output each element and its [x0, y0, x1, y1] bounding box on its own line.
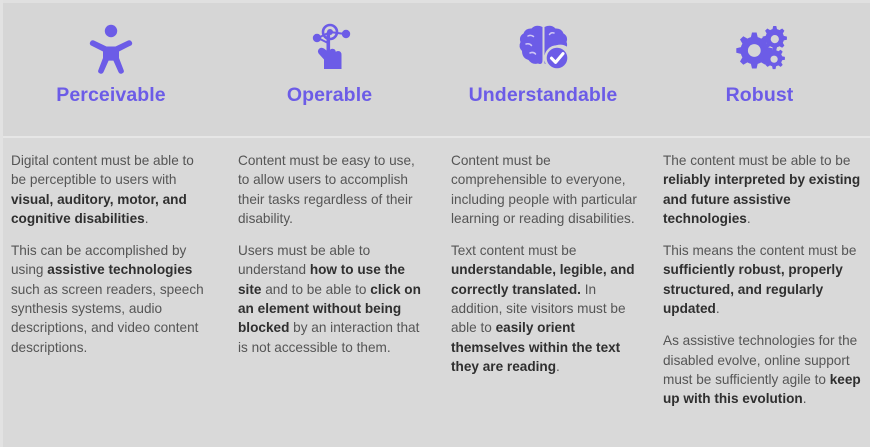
body-text: The content must be able to be [663, 153, 850, 168]
brain-check-icon [516, 18, 570, 78]
description-operable: Content must be easy to use, to allow us… [222, 151, 437, 447]
body-text: . [145, 211, 149, 226]
pillar-title-perceivable: Perceivable [56, 86, 166, 106]
emphasis-text: understandable, legible, and correctly t… [451, 262, 635, 296]
description-perceivable: Digital content must be able to be perce… [0, 151, 222, 447]
body-text: such as screen readers, speech synthesis… [11, 282, 204, 355]
pillar-title-understandable: Understandable [469, 86, 618, 106]
header-cell-operable: Operable [222, 0, 437, 136]
body-text: This means the content must be [663, 243, 856, 258]
body-text: Content must be comprehensible to everyo… [451, 153, 637, 226]
body-text: . [716, 301, 720, 316]
principles-body-row: Digital content must be able to be perce… [0, 138, 870, 447]
paragraph: This can be accomplished by using assist… [11, 241, 210, 357]
paragraph: Users must be able to understand how to … [238, 241, 425, 357]
header-cell-understandable: Understandable [437, 0, 649, 136]
header-cell-perceivable: Perceivable [0, 0, 222, 136]
emphasis-text: reliably interpreted by existing and fut… [663, 172, 860, 226]
body-text: Content must be easy to use, to allow us… [238, 153, 415, 226]
gears-icon [731, 18, 789, 78]
wcag-principles-table: Perceivable Operable [0, 0, 870, 447]
emphasis-text: visual, auditory, motor, and cognitive d… [11, 192, 187, 226]
paragraph: Content must be comprehensible to everyo… [451, 151, 637, 228]
paragraph: As assistive technologies for the disabl… [663, 331, 866, 408]
description-understandable: Content must be comprehensible to everyo… [437, 151, 649, 447]
left-edge-divider [0, 0, 3, 447]
emphasis-text: sufficiently robust, properly structured… [663, 262, 843, 316]
accessibility-person-icon [85, 18, 137, 78]
description-robust: The content must be able to be reliably … [649, 151, 870, 447]
paragraph: Digital content must be able to be perce… [11, 151, 210, 228]
pillar-title-robust: Robust [726, 86, 794, 106]
body-text: Digital content must be able to be perce… [11, 153, 194, 187]
paragraph: Text content must be understandable, leg… [451, 241, 637, 376]
body-text: . [556, 359, 560, 374]
paragraph: This means the content must be sufficien… [663, 241, 866, 318]
emphasis-text: assistive technologies [47, 262, 192, 277]
body-text: . [747, 211, 751, 226]
header-cell-robust: Robust [649, 0, 870, 136]
hand-tap-network-icon [303, 18, 357, 78]
pillar-title-operable: Operable [287, 86, 372, 106]
paragraph: Content must be easy to use, to allow us… [238, 151, 425, 228]
body-text: . [803, 391, 807, 406]
body-text: Text content must be [451, 243, 576, 258]
body-text: As assistive technologies for the disabl… [663, 333, 857, 387]
top-edge-divider [0, 0, 870, 3]
body-text: and to be able to [261, 282, 370, 297]
principles-header-row: Perceivable Operable [0, 0, 870, 138]
paragraph: The content must be able to be reliably … [663, 151, 866, 228]
